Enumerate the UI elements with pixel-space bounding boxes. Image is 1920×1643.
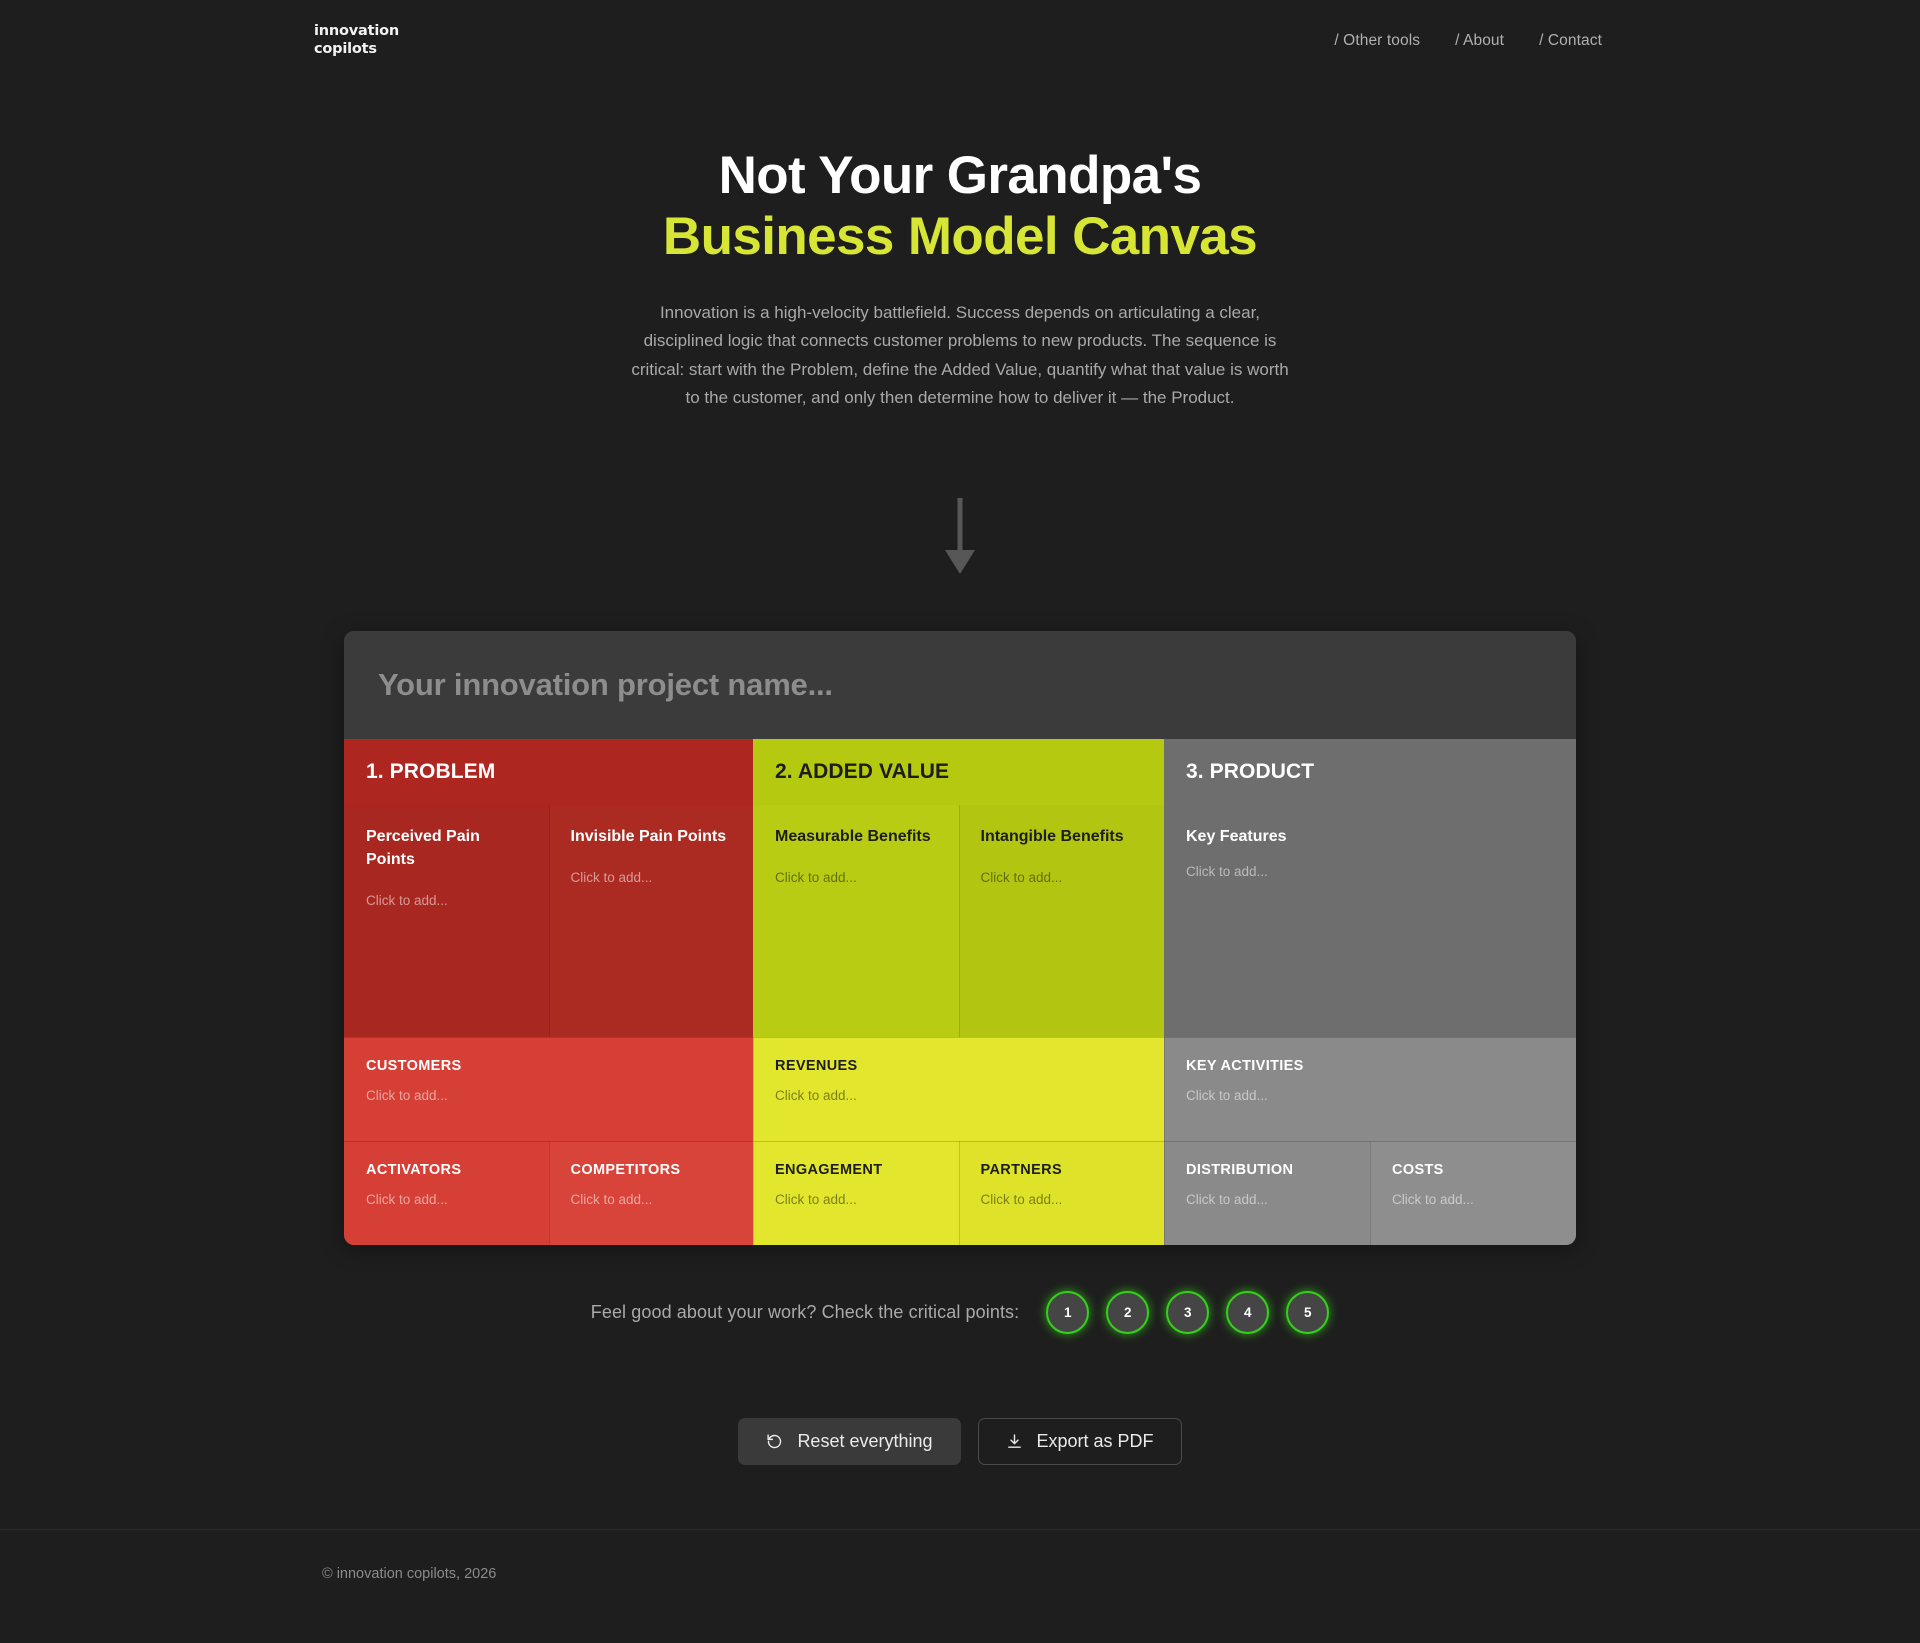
critical-point-2[interactable]: 2 (1106, 1291, 1149, 1334)
cell-title: COMPETITORS (571, 1162, 732, 1178)
canvas-row-secondary: CUSTOMERS Click to add... REVENUES Click… (344, 1037, 1576, 1141)
cell-title: DISTRIBUTION (1186, 1162, 1348, 1178)
cell-title: PARTNERS (981, 1162, 1143, 1178)
top-navigation-bar: innovation copilots / Other tools / Abou… (0, 0, 1920, 82)
cell-placeholder: Click to add... (775, 869, 937, 888)
cell-perceived-pain-points[interactable]: Perceived Pain Points Click to add... (344, 805, 549, 1037)
page-title-line-2: Business Model Canvas (0, 206, 1920, 267)
hero-subtitle: Innovation is a high-velocity battlefiel… (624, 299, 1296, 413)
export-as-pdf-button[interactable]: Export as PDF (978, 1418, 1182, 1465)
critical-point-number: 2 (1124, 1305, 1132, 1320)
download-icon (1006, 1433, 1023, 1450)
cell-title: Intangible Benefits (981, 826, 1143, 849)
cell-title: Perceived Pain Points (366, 826, 527, 871)
cell-intangible-benefits[interactable]: Intangible Benefits Click to add... (959, 805, 1165, 1037)
cell-title: REVENUES (775, 1058, 1142, 1074)
brand-logo[interactable]: innovation copilots (314, 23, 399, 58)
cell-title: CUSTOMERS (366, 1058, 731, 1074)
cell-title: KEY ACTIVITIES (1186, 1058, 1554, 1074)
cell-invisible-pain-points[interactable]: Invisible Pain Points Click to add... (549, 805, 754, 1037)
cell-placeholder: Click to add... (366, 892, 527, 911)
cell-placeholder: Click to add... (571, 869, 732, 888)
page-title: Not Your Grandpa's Business Model Canvas (0, 145, 1920, 268)
cell-key-features[interactable]: Key Features Click to add... (1164, 805, 1576, 1037)
cell-placeholder: Click to add... (775, 1087, 1142, 1106)
project-name-placeholder: Your innovation project name... (378, 667, 833, 703)
canvas-column-headers: 1. PROBLEM 2. ADDED VALUE 3. PRODUCT (344, 739, 1576, 805)
copyright-text: © innovation copilots, 2026 (322, 1566, 496, 1582)
critical-point-4[interactable]: 4 (1226, 1291, 1269, 1334)
column-header-added-value: 2. ADDED VALUE (753, 739, 1164, 805)
logo-line-2: copilots (314, 41, 399, 59)
cell-engagement[interactable]: ENGAGEMENT Click to add... (753, 1141, 959, 1245)
critical-points-section: Feel good about your work? Check the cri… (0, 1291, 1920, 1334)
critical-point-1[interactable]: 1 (1046, 1291, 1089, 1334)
cell-revenues[interactable]: REVENUES Click to add... (753, 1037, 1164, 1141)
cell-title: COSTS (1392, 1162, 1554, 1178)
page-root: innovation copilots / Other tools / Abou… (0, 0, 1920, 1643)
cell-placeholder: Click to add... (366, 1087, 731, 1106)
cell-measurable-benefits[interactable]: Measurable Benefits Click to add... (753, 805, 959, 1037)
critical-point-5[interactable]: 5 (1286, 1291, 1329, 1334)
project-name-field[interactable]: Your innovation project name... (344, 631, 1576, 739)
page-footer: © innovation copilots, 2026 (0, 1529, 1920, 1617)
cell-key-activities[interactable]: KEY ACTIVITIES Click to add... (1164, 1037, 1576, 1141)
critical-points-label: Feel good about your work? Check the cri… (591, 1302, 1020, 1323)
cell-title: Key Features (1186, 826, 1554, 849)
nav-links: / Other tools / About / Contact (1334, 32, 1602, 50)
nav-link-about[interactable]: / About (1455, 32, 1504, 50)
cell-title: Invisible Pain Points (571, 826, 732, 849)
cell-costs[interactable]: COSTS Click to add... (1370, 1141, 1576, 1245)
critical-point-number: 5 (1304, 1305, 1312, 1320)
business-model-canvas: Your innovation project name... 1. PROBL… (344, 631, 1576, 1245)
critical-point-3[interactable]: 3 (1166, 1291, 1209, 1334)
cell-title: ENGAGEMENT (775, 1162, 937, 1178)
arrow-down-icon (943, 498, 977, 576)
reset-counterclockwise-icon (766, 1433, 783, 1450)
cell-placeholder: Click to add... (981, 1191, 1143, 1210)
nav-link-other-tools[interactable]: / Other tools (1334, 32, 1420, 50)
action-buttons: Reset everything Export as PDF (0, 1418, 1920, 1465)
column-header-product: 3. PRODUCT (1164, 739, 1576, 805)
critical-point-number: 4 (1244, 1305, 1252, 1320)
scroll-down-indicator (0, 498, 1920, 576)
reset-everything-button[interactable]: Reset everything (738, 1418, 960, 1465)
nav-link-contact[interactable]: / Contact (1539, 32, 1602, 50)
cell-distribution[interactable]: DISTRIBUTION Click to add... (1164, 1141, 1370, 1245)
cell-placeholder: Click to add... (1186, 1191, 1348, 1210)
cell-competitors[interactable]: COMPETITORS Click to add... (549, 1141, 754, 1245)
reset-button-label: Reset everything (797, 1431, 932, 1452)
canvas-row-primary: Perceived Pain Points Click to add... In… (344, 805, 1576, 1037)
critical-point-number: 3 (1184, 1305, 1192, 1320)
cell-placeholder: Click to add... (981, 869, 1143, 888)
cell-placeholder: Click to add... (775, 1191, 937, 1210)
cell-placeholder: Click to add... (366, 1191, 527, 1210)
cell-placeholder: Click to add... (1186, 1087, 1554, 1106)
hero-section: Not Your Grandpa's Business Model Canvas… (0, 82, 1920, 412)
logo-line-1: innovation (314, 23, 399, 41)
cell-activators[interactable]: ACTIVATORS Click to add... (344, 1141, 549, 1245)
cell-partners[interactable]: PARTNERS Click to add... (959, 1141, 1165, 1245)
canvas-row-tertiary: ACTIVATORS Click to add... COMPETITORS C… (344, 1141, 1576, 1245)
cell-placeholder: Click to add... (1392, 1191, 1554, 1210)
cell-title: ACTIVATORS (366, 1162, 527, 1178)
cell-title: Measurable Benefits (775, 826, 937, 849)
cell-placeholder: Click to add... (1186, 863, 1554, 882)
column-header-problem: 1. PROBLEM (344, 739, 753, 805)
cell-customers[interactable]: CUSTOMERS Click to add... (344, 1037, 753, 1141)
export-button-label: Export as PDF (1037, 1431, 1154, 1452)
page-title-line-1: Not Your Grandpa's (719, 146, 1202, 205)
cell-placeholder: Click to add... (571, 1191, 732, 1210)
critical-point-number: 1 (1064, 1305, 1072, 1320)
